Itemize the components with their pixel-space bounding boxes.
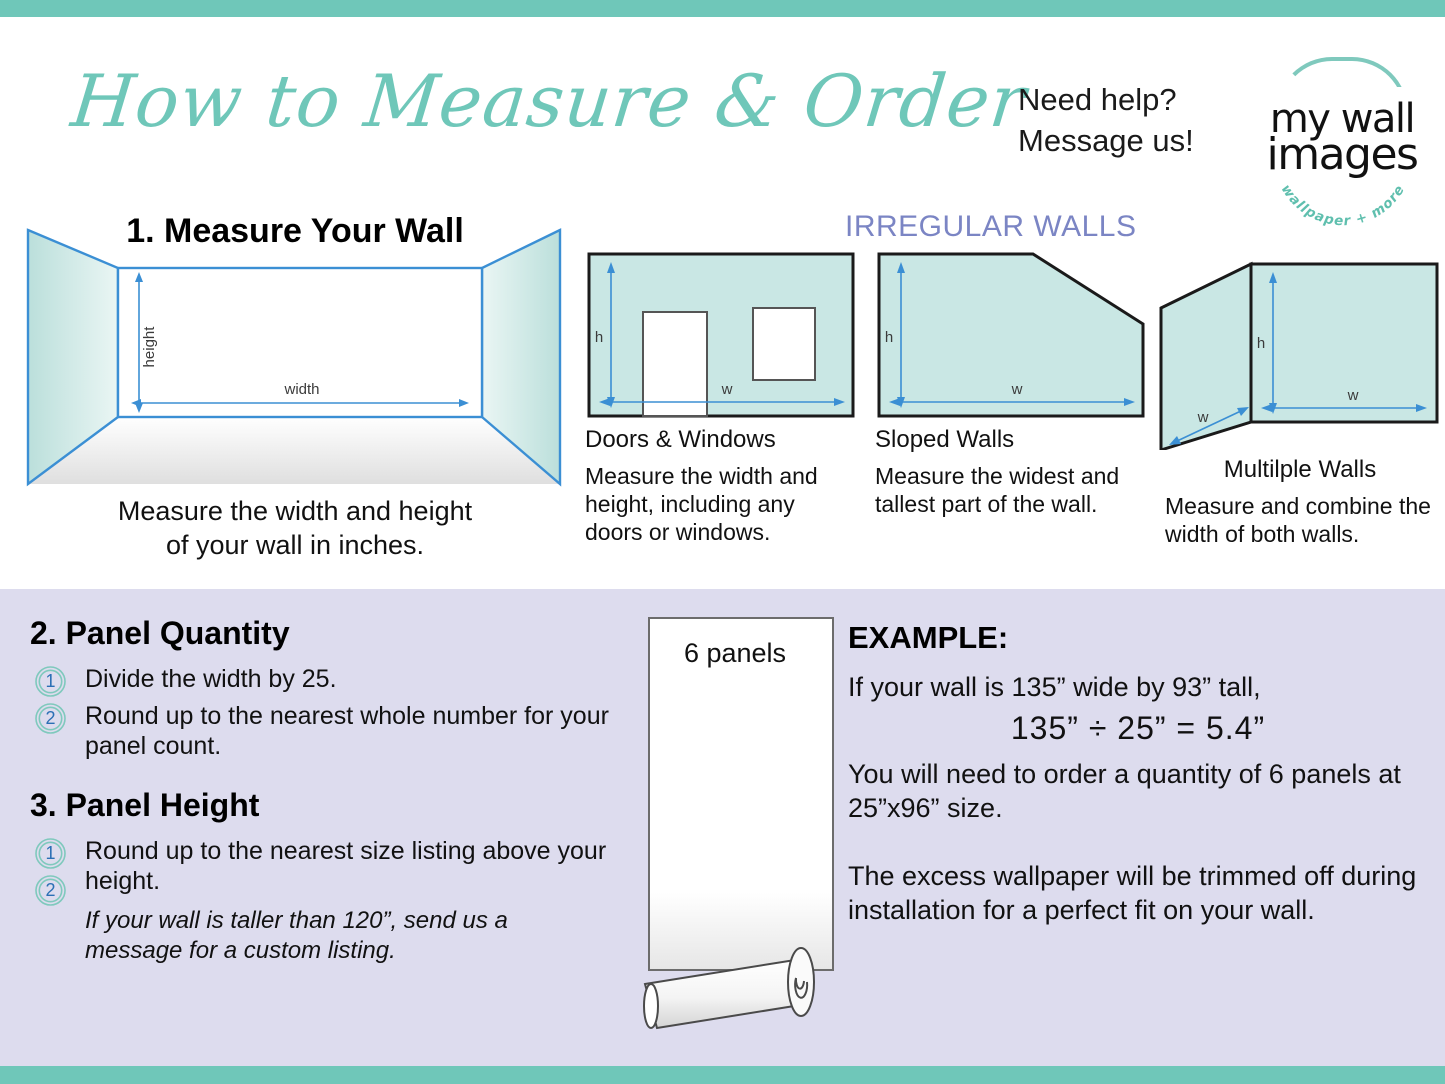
number-circle-2b-value: 2 xyxy=(34,874,67,907)
irregular-card-doors-windows: h w Doors & Windows Measure the width an… xyxy=(585,250,857,546)
multiple-walls-desc: Measure and combine the width of both wa… xyxy=(1155,492,1445,548)
step3-item-text: Round up to the nearest size listing abo… xyxy=(85,837,606,895)
need-help-line1: Need help? xyxy=(1018,79,1194,120)
number-circle-1-value: 1 xyxy=(34,665,67,698)
number-circle-2-icon: 2 xyxy=(34,702,67,735)
multiple-w-label: w xyxy=(1347,387,1359,404)
doors-windows-diagram: h w xyxy=(585,250,857,420)
logo-tagline: wallpaper + more xyxy=(1272,161,1414,207)
step1-measure-your-wall: height width 1. Measure Your Wall Measur… xyxy=(14,212,576,567)
example-spacer xyxy=(848,825,1428,859)
svg-text:wallpaper + more: wallpaper + more xyxy=(1278,182,1409,230)
sloped-walls-desc: Measure the widest and tallest part of t… xyxy=(875,462,1147,518)
number-circle-1b-value: 1 xyxy=(34,837,67,870)
logo-tagline-text: wallpaper + more xyxy=(1278,182,1409,230)
sloped-walls-diagram: h w xyxy=(875,250,1147,420)
step3-item: 1 2 Round up to the nearest size listing… xyxy=(30,836,610,896)
number-circle-2b-icon: 2 xyxy=(34,874,67,907)
header: How to Measure & Order Need help? Messag… xyxy=(0,17,1445,207)
top-accent-bar xyxy=(0,0,1445,17)
example-line1: If your wall is 135” wide by 93” tall, xyxy=(848,670,1428,704)
multiple-h-label: h xyxy=(1257,335,1265,352)
doors-windows-desc: Measure the width and height, including … xyxy=(585,462,857,546)
doors-windows-name: Doors & Windows xyxy=(585,426,857,454)
example-line3: The excess wallpaper will be trimmed off… xyxy=(848,859,1428,927)
number-circle-2-value: 2 xyxy=(34,702,67,735)
step2-item-1: 1 Divide the width by 25. xyxy=(30,664,610,694)
need-help-line2: Message us! xyxy=(1018,120,1194,161)
multiple-w2-label: w xyxy=(1197,409,1209,426)
brand-logo: my wall images wallpaper + more xyxy=(1258,55,1426,203)
step2-item-2-text: Round up to the nearest whole number for… xyxy=(85,702,609,760)
multiple-walls-name: Multilple Walls xyxy=(1155,456,1445,484)
need-help-text: Need help? Message us! xyxy=(1018,79,1194,161)
step1-title: 1. Measure Your Wall xyxy=(14,212,576,251)
step1-caption: Measure the width and height of your wal… xyxy=(14,494,576,562)
number-circle-1b-icon: 1 xyxy=(34,837,67,870)
sloped-walls-name: Sloped Walls xyxy=(875,426,1147,454)
step2-item-1-text: Divide the width by 25. xyxy=(85,665,337,693)
example-formula: 135” ÷ 25” = 5.4” xyxy=(848,710,1428,747)
irregular-card-sloped-walls: h w Sloped Walls Measure the widest and … xyxy=(875,250,1147,518)
step3-title: 3. Panel Height xyxy=(30,787,610,824)
width-dimension-label: width xyxy=(283,381,319,398)
example-line2: You will need to order a quantity of 6 p… xyxy=(848,757,1428,825)
step3-note: If your wall is taller than 120”, send u… xyxy=(30,906,610,966)
multiple-walls-diagram: h w w xyxy=(1155,250,1445,450)
irregular-walls-row: h w Doors & Windows Measure the width an… xyxy=(585,250,1445,570)
roll-panel-count-label: 6 panels xyxy=(637,638,833,669)
sloped-w-label: w xyxy=(1011,381,1023,398)
step1-caption-line2: of your wall in inches. xyxy=(14,528,576,562)
infographic-page: How to Measure & Order Need help? Messag… xyxy=(0,0,1445,1084)
number-circle-1-icon: 1 xyxy=(34,665,67,698)
step2-item-2: 2 Round up to the nearest whole number f… xyxy=(30,701,610,761)
doors-h-label: h xyxy=(595,329,603,346)
irregular-walls-title: IRREGULAR WALLS xyxy=(845,210,1136,244)
height-dimension-label: height xyxy=(141,326,158,368)
steps-column: 2. Panel Quantity 1 Divide the width by … xyxy=(30,615,610,966)
page-title: How to Measure & Order xyxy=(68,59,1031,143)
example-column: EXAMPLE: If your wall is 135” wide by 93… xyxy=(848,620,1428,927)
step2-title: 2. Panel Quantity xyxy=(30,615,610,652)
irregular-card-multiple-walls: h w w Multilpl xyxy=(1155,250,1445,548)
example-heading: EXAMPLE: xyxy=(848,620,1428,656)
wallpaper-roll-illustration: 6 panels xyxy=(637,612,847,1037)
sloped-h-label: h xyxy=(885,329,893,346)
step1-caption-line1: Measure the width and height xyxy=(14,494,576,528)
room-diagram: height width xyxy=(14,222,576,492)
bottom-accent-bar xyxy=(0,1066,1445,1084)
doors-w-label: w xyxy=(721,381,733,398)
